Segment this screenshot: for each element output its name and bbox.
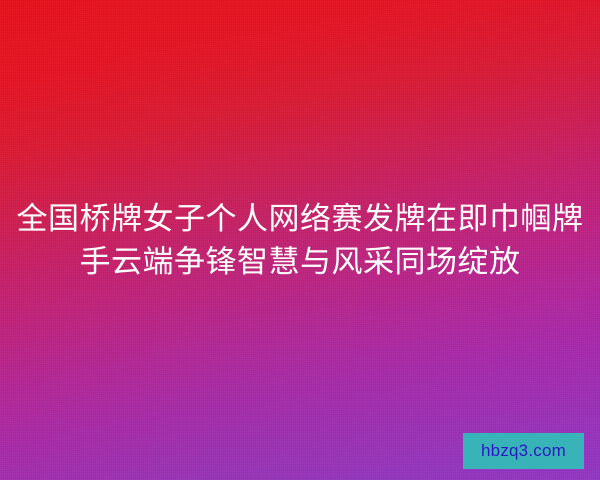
headline-line-2: 手云端争锋智慧与风采同场绽放 bbox=[16, 240, 584, 283]
banner-image: 全国桥牌女子个人网络赛发牌在即巾帼牌 手云端争锋智慧与风采同场绽放 hbzq3.… bbox=[0, 0, 600, 480]
watermark-label: hbzq3.com bbox=[481, 441, 566, 461]
headline-line-1: 全国桥牌女子个人网络赛发牌在即巾帼牌 bbox=[16, 197, 584, 240]
watermark-badge: hbzq3.com bbox=[463, 433, 584, 469]
headline-text: 全国桥牌女子个人网络赛发牌在即巾帼牌 手云端争锋智慧与风采同场绽放 bbox=[0, 197, 600, 283]
